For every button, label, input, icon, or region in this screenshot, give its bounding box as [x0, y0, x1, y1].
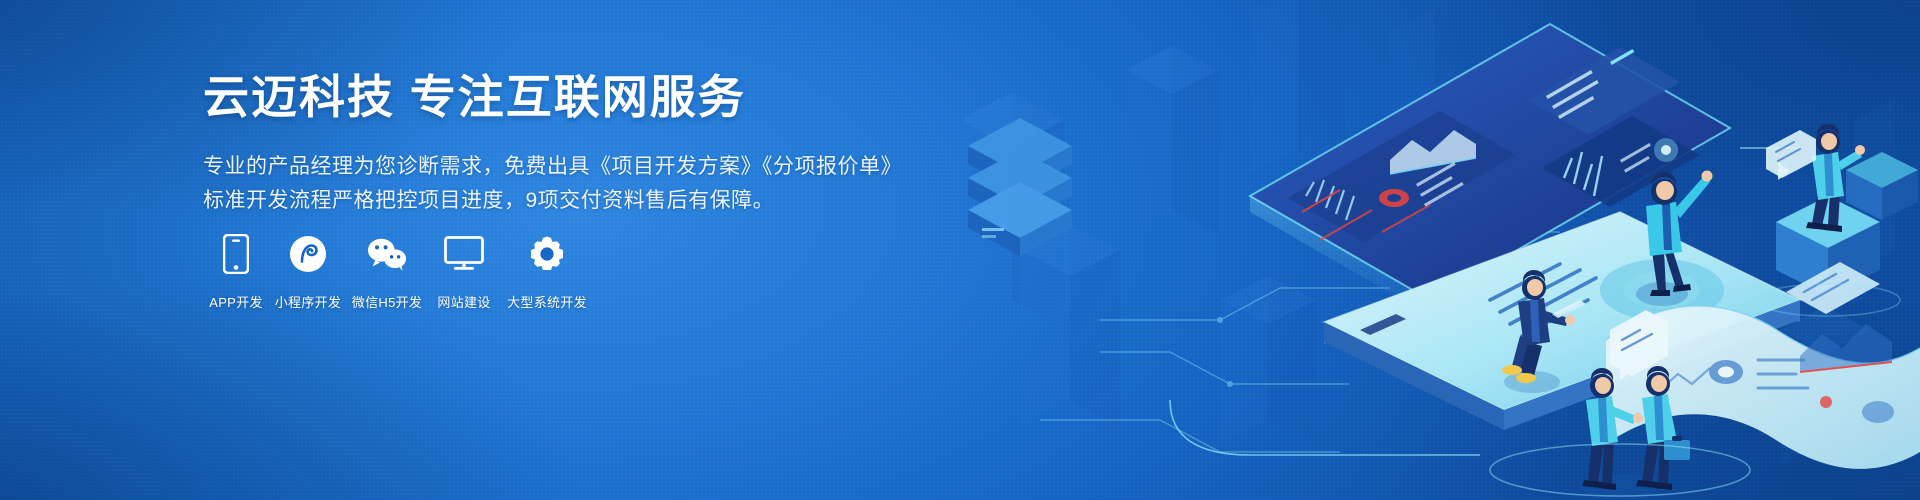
service-item-miniprogram[interactable]: 小程序开发: [269, 232, 347, 311]
service-item-website[interactable]: 网站建设: [427, 232, 501, 311]
mini-program-icon: [288, 232, 328, 276]
isometric-tech-illustration: [920, 0, 1920, 500]
service-label-miniprogram: 小程序开发: [275, 292, 342, 311]
gear-icon: [527, 232, 567, 276]
hero-banner: 云迈科技 专注互联网服务 专业的产品经理为您诊断需求，免费出具《项目开发方案》《…: [0, 0, 1920, 500]
subtitle-line-2: 标准开发流程严格把控项目进度，9项交付资料售后有保障。: [203, 184, 903, 218]
server-stack-blocks: [968, 118, 1072, 256]
monitor-icon: [444, 232, 484, 276]
subtitle-block: 专业的产品经理为您诊断需求，免费出具《项目开发方案》《分项报价单》 标准开发流程…: [203, 150, 903, 218]
service-label-wechat: 微信H5开发: [352, 292, 422, 311]
mobile-phone-icon: [216, 232, 256, 276]
service-item-system[interactable]: 大型系统开发: [501, 232, 593, 311]
page-title: 云迈科技 专注互联网服务: [203, 72, 903, 123]
banner-copy: 云迈科技 专注互联网服务 专业的产品经理为您诊断需求，免费出具《项目开发方案》《…: [203, 72, 903, 218]
subtitle-line-1: 专业的产品经理为您诊断需求，免费出具《项目开发方案》《分项报价单》: [203, 150, 903, 184]
service-label-system: 大型系统开发: [507, 292, 587, 311]
service-label-website: 网站建设: [437, 292, 490, 311]
service-item-app[interactable]: APP开发: [203, 232, 269, 311]
service-icon-row: APP开发 小程序开发: [203, 232, 593, 311]
service-item-wechat[interactable]: 微信H5开发: [347, 232, 427, 311]
service-label-app: APP开发: [209, 292, 263, 311]
wechat-icon: [367, 232, 407, 276]
